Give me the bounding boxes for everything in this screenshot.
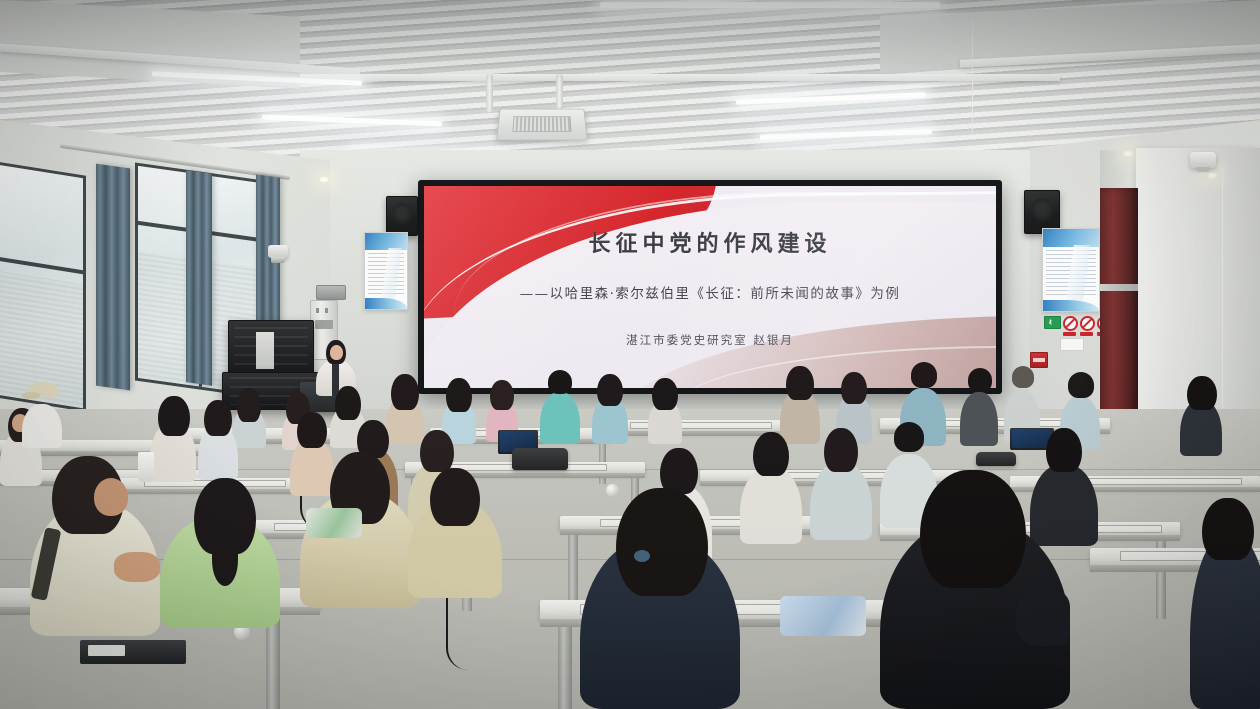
desk-inset-panel	[1080, 478, 1242, 485]
attendee-hair	[652, 378, 678, 410]
attendee-hair	[920, 470, 1026, 588]
wall-cable	[1222, 168, 1223, 408]
poster-footer	[365, 298, 407, 309]
attendee-hair	[786, 366, 814, 400]
attendee-hair	[616, 488, 708, 596]
wall-speaker-left	[386, 196, 418, 236]
attendee-body	[22, 404, 62, 448]
presentation-slide: 长征中党的作风建设 ——以哈里森·索尔兹伯里《长征：前所未闻的故事》为例 湛江市…	[424, 186, 996, 388]
attendee-hair	[430, 468, 480, 526]
cap-brim	[22, 392, 40, 399]
folded-cloth	[780, 596, 866, 636]
slide-subtitle: ——以哈里森·索尔兹伯里《长征：前所未闻的故事》为例	[520, 282, 901, 302]
attendee-hair	[335, 386, 361, 420]
wall-alarm-device	[1190, 152, 1216, 168]
attendee-hair	[1202, 498, 1254, 560]
ceiling-downlight	[318, 176, 330, 183]
attendee	[648, 378, 682, 444]
attendee	[1180, 376, 1222, 456]
attendee-hair	[548, 370, 572, 394]
no-smoking-sign	[1080, 316, 1095, 336]
attendee-hair	[841, 372, 867, 404]
attendee-foreground-center	[580, 488, 740, 709]
attendee-foreground-left2	[160, 478, 280, 628]
small-wall-notice	[1060, 338, 1084, 351]
surveillance-camera	[268, 245, 288, 258]
attendee-arm	[1016, 590, 1070, 646]
curtain-left-b	[186, 170, 212, 386]
attendee-foreground-left	[30, 456, 160, 636]
attendee-hair	[1068, 372, 1094, 398]
attendee	[810, 428, 872, 540]
desk-leg	[266, 615, 280, 709]
photo-scene: 长征中党的作风建设 ——以哈里森·索尔兹伯里《长征：前所未闻的故事》为例 湛江市…	[0, 0, 1260, 709]
handbag	[512, 448, 568, 470]
hair-tie	[634, 550, 650, 562]
attendee-hair	[237, 388, 261, 422]
notice-poster-left	[364, 232, 408, 310]
handbag	[976, 452, 1016, 466]
computer-label	[88, 645, 124, 656]
desk-computer	[80, 640, 186, 664]
attendee-hair	[894, 422, 924, 452]
emergency-exit-sign	[1044, 316, 1061, 329]
rack-paper	[256, 332, 274, 369]
attendee-hair	[597, 374, 623, 406]
attendee-with-cap	[22, 382, 62, 448]
attendee-hair	[420, 430, 454, 472]
attendee	[408, 468, 502, 598]
drink-cup	[138, 452, 154, 482]
attendee-hair	[204, 400, 232, 436]
poster-footer	[1043, 300, 1099, 311]
attendee	[960, 368, 998, 446]
notice-poster-right	[1042, 228, 1100, 312]
desk-leg	[558, 627, 572, 709]
window-left-far	[0, 160, 86, 412]
attendee-body	[740, 466, 802, 544]
attendee-hair	[968, 368, 992, 392]
attendee	[198, 400, 238, 480]
attendee-hair	[446, 378, 472, 412]
attendee-body	[960, 392, 998, 446]
attendee-hair	[1046, 428, 1082, 472]
slide-title: 长征中党的作风建设	[588, 226, 831, 258]
attendee-body	[810, 462, 872, 540]
attendee	[540, 370, 580, 444]
attendee-hair	[824, 428, 858, 472]
attendee-body	[540, 392, 580, 444]
attendee-ponytail	[212, 534, 238, 586]
dispenser-taps	[316, 308, 333, 313]
rear-door[interactable]	[1100, 188, 1138, 438]
slide-text-block: 长征中党的作风建设 ——以哈里森·索尔兹伯里《长征：前所未闻的故事》为例 湛江市…	[424, 186, 996, 388]
attendee	[592, 374, 628, 444]
attendee	[740, 432, 802, 544]
presenter-head	[330, 345, 343, 360]
attendee-hair	[1012, 366, 1034, 388]
attendee-hair	[911, 362, 937, 388]
attendee-hair	[1187, 376, 1217, 410]
attendee-foreground-right	[880, 470, 1070, 709]
attendee-hair	[753, 432, 789, 476]
attendee-arm	[114, 552, 160, 582]
no-fire-sign	[1063, 316, 1078, 336]
folded-cloth	[306, 508, 362, 538]
attendee-right-edge	[1190, 498, 1260, 709]
attendee-hair	[490, 380, 514, 410]
attendee-hair	[158, 396, 190, 436]
slide-author: 湛江市委党史研究室 赵银月	[626, 332, 794, 348]
attendee-hair	[297, 412, 327, 448]
attendee-hair	[391, 374, 419, 410]
ceiling-downlight	[1122, 150, 1134, 157]
curtain-left-a	[96, 164, 130, 391]
attendee-head	[94, 478, 128, 516]
dispenser-panel	[315, 320, 334, 329]
ceiling-downlight	[1206, 172, 1218, 179]
wall-vent	[316, 285, 346, 300]
door-panel-seam	[1100, 284, 1138, 291]
